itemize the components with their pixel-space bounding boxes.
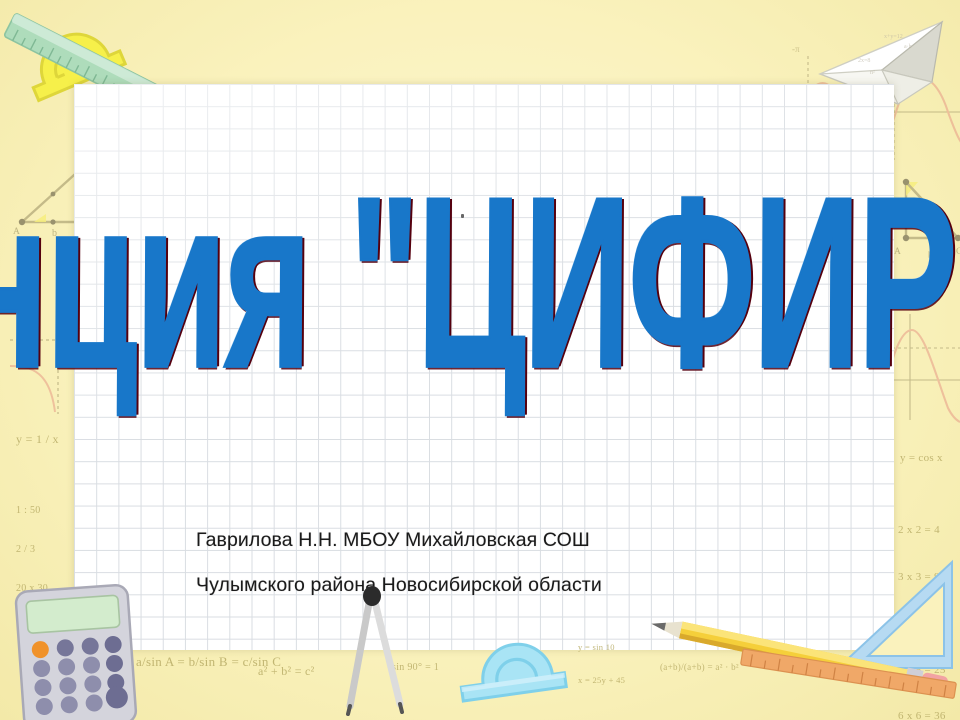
hyperbola-equation-label: y = 1 / x bbox=[16, 432, 59, 447]
left-math-line: 20 x 30 bbox=[16, 582, 48, 595]
multiplication-table: 2 x 2 = 4 3 x 3 = 9 4 x 4 = 16 5 x 5 = 2… bbox=[898, 492, 946, 720]
multiplication-row: 5 x 5 = 25 bbox=[898, 663, 946, 679]
sin90-formula: sin 90° = 1 bbox=[392, 662, 439, 673]
fraction-expression: (a+b)/(a+b) = a² · b² bbox=[660, 662, 739, 672]
presentation-slide: b A y = 1 / x 1 : 50 2 / 3 20 x 30 13592… bbox=[0, 0, 960, 720]
pythagoras-formula: a² + b² = c² bbox=[258, 664, 315, 679]
subtitle-line-2: Чулымского района Новосибирской области bbox=[196, 563, 836, 608]
multiplication-row: 4 x 4 = 16 bbox=[898, 616, 946, 632]
cosine-equation-label: y = cos x bbox=[900, 452, 943, 464]
subtitle-line-1: Гаврилова Н.Н. МБОУ Михайловская СОШ bbox=[196, 518, 836, 563]
system-equation-line: x = 25y + 45 bbox=[578, 675, 625, 686]
left-math-line: 1 : 50 bbox=[16, 504, 48, 517]
system-equations-block: y = sin 10 x = 25y + 45 y = 5 x = 25 + 4… bbox=[578, 620, 625, 720]
multiplication-row: 6 x 6 = 36 bbox=[898, 709, 946, 720]
subtitle-block: Гаврилова Н.Н. МБОУ Михайловская СОШ Чул… bbox=[196, 518, 836, 608]
left-math-stack: 1 : 50 2 / 3 20 x 30 135920 bbox=[16, 478, 48, 660]
multiplication-row: 2 x 2 = 4 bbox=[898, 523, 946, 539]
multiplication-row: 3 x 3 = 9 bbox=[898, 570, 946, 586]
left-math-line: 2 / 3 bbox=[16, 543, 48, 556]
system-equation-line: y = sin 10 bbox=[578, 642, 625, 653]
sheet-dot bbox=[461, 214, 464, 218]
left-math-line: 135920 bbox=[16, 621, 48, 634]
